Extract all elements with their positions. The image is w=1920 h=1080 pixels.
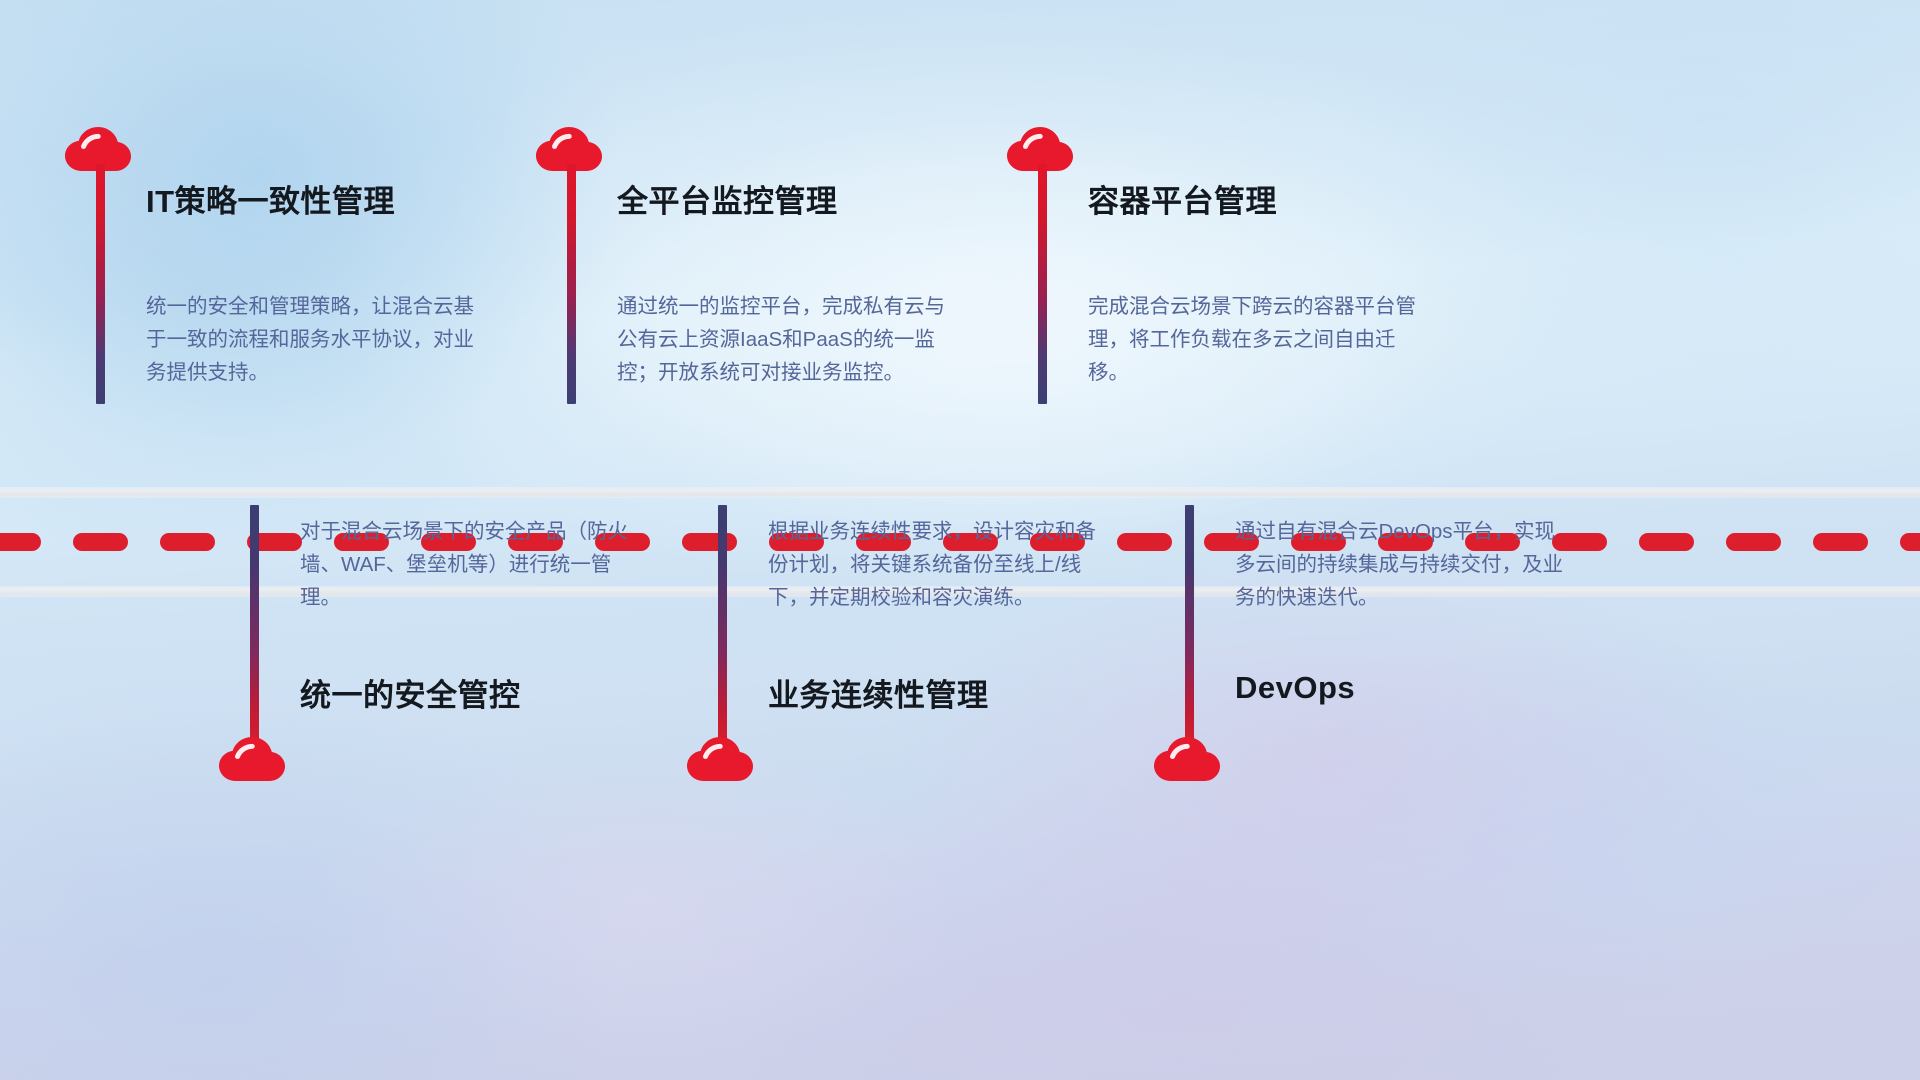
item-heading: IT策略一致性管理 [146,176,395,221]
timeline-stem [96,164,105,404]
infographic-canvas: IT策略一致性管理 统一的安全和管理策略，让混合云基于一致的流程和服务水平协议，… [0,0,1920,1080]
item-heading: 业务连续性管理 [768,670,989,715]
item-description: 通过统一的监控平台，完成私有云与公有云上资源IaaS和PaaS的统一监控；开放系… [617,290,947,389]
item-heading: 全平台监控管理 [617,176,838,221]
cloud-pin-icon [219,737,285,783]
road-dash [1813,533,1868,551]
timeline-stem [250,505,259,755]
item-description: 根据业务连续性要求，设计容灾和备份计划，将关键系统备份至线上/线下，并定期校验和… [768,515,1098,614]
item-description: 通过自有混合云DevOps平台，实现多云间的持续集成与持续交付，及业务的快速迭代… [1235,515,1565,614]
road-dash [1900,533,1920,551]
cloud-pin-icon [1154,737,1220,783]
item-description: 统一的安全和管理策略，让混合云基于一致的流程和服务水平协议，对业务提供支持。 [146,290,476,389]
road-dash [73,533,128,551]
item-heading: DevOps [1235,670,1355,706]
road-dash [1639,533,1694,551]
road-dash [1117,533,1172,551]
item-description: 完成混合云场景下跨云的容器平台管理，将工作负载在多云之间自由迁移。 [1088,290,1418,389]
road-dash [160,533,215,551]
background-haze-bottom-left [0,660,620,1080]
item-description: 对于混合云场景下的安全产品（防火墙、WAF、堡垒机等）进行统一管理。 [300,515,630,614]
timeline-stem [1038,164,1047,404]
cloud-pin-icon [687,737,753,783]
road-dash [682,533,737,551]
road-dash [0,533,41,551]
timeline-stem [718,505,727,755]
road-edge-top [0,487,1920,498]
item-heading: 统一的安全管控 [300,670,521,715]
road-dash [1726,533,1781,551]
item-heading: 容器平台管理 [1088,176,1277,221]
timeline-stem [1185,505,1194,755]
timeline-stem [567,164,576,404]
